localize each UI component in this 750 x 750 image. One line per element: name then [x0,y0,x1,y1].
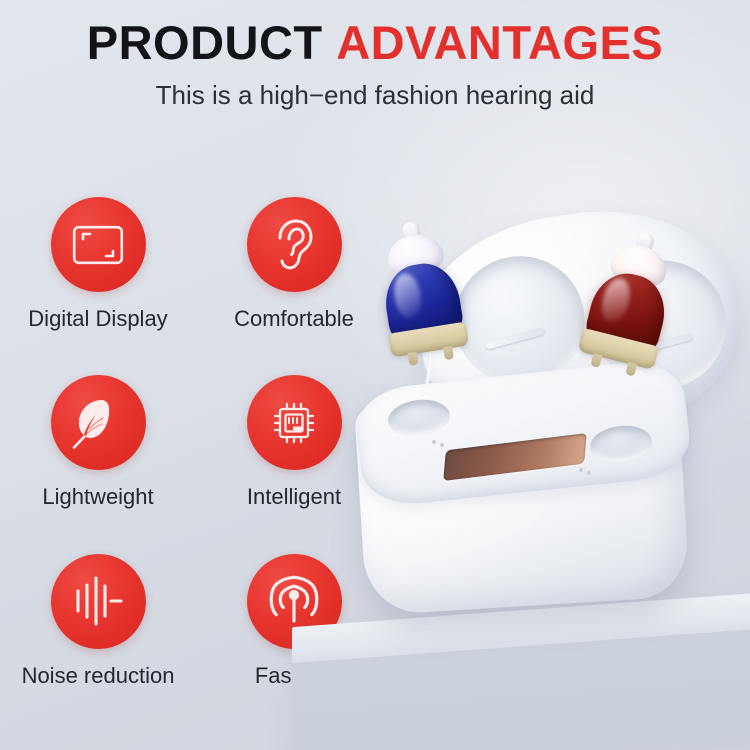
feature-item-lightweight[interactable]: Lightweight [0,361,196,509]
earpiece-contact-pin [590,353,602,368]
page-title-part1: PRODUCT [87,16,323,69]
page-title-part2: ADVANTAGES [336,16,663,69]
chip-icon [268,397,320,449]
signal-broadcast-icon [267,574,321,628]
page-title: PRODUCT ADVANTAGES [0,0,750,68]
feature-icon-badge [247,375,342,470]
feature-label: Noise reduction [22,663,175,688]
feather-icon [71,397,125,449]
feature-icon-badge [51,197,146,292]
feature-icon-badge [247,197,342,292]
header: PRODUCT ADVANTAGES This is a high−end fa… [0,0,750,109]
feature-icon-badge [51,375,146,470]
feature-item-noise-reduction[interactable]: Noise reduction [0,540,196,688]
advertisement-banner: PRODUCT ADVANTAGES This is a high−end fa… [0,0,750,750]
feature-item-digital-display[interactable]: Digital Display [0,183,196,331]
sound-wave-icon [71,575,125,627]
earpiece-left-blue [374,229,473,379]
status-dot [432,440,436,444]
feature-icon-badge [51,554,146,649]
status-dot [440,443,444,447]
feature-label: Digital Display [28,306,167,331]
feature-grid: Digital Display Comfortable [0,183,392,688]
display-icon [72,225,124,265]
product-image-hearing-aid-charging-case [336,196,750,696]
feature-row: Digital Display Comfortable [0,183,392,331]
ear-icon [272,218,316,272]
feature-row: Lightweight [0,361,392,509]
page-subtitle: This is a high−end fashion hearing aid [0,68,750,110]
earpiece-contact-pin [407,352,418,366]
page-title-space [323,16,337,69]
feature-label: Intelligent [247,484,341,509]
status-dot [579,468,583,472]
feature-label: Lightweight [42,484,153,509]
earpiece-contact-pin [443,346,454,360]
earpiece-contact-pin [625,362,637,377]
status-dot [587,471,591,475]
